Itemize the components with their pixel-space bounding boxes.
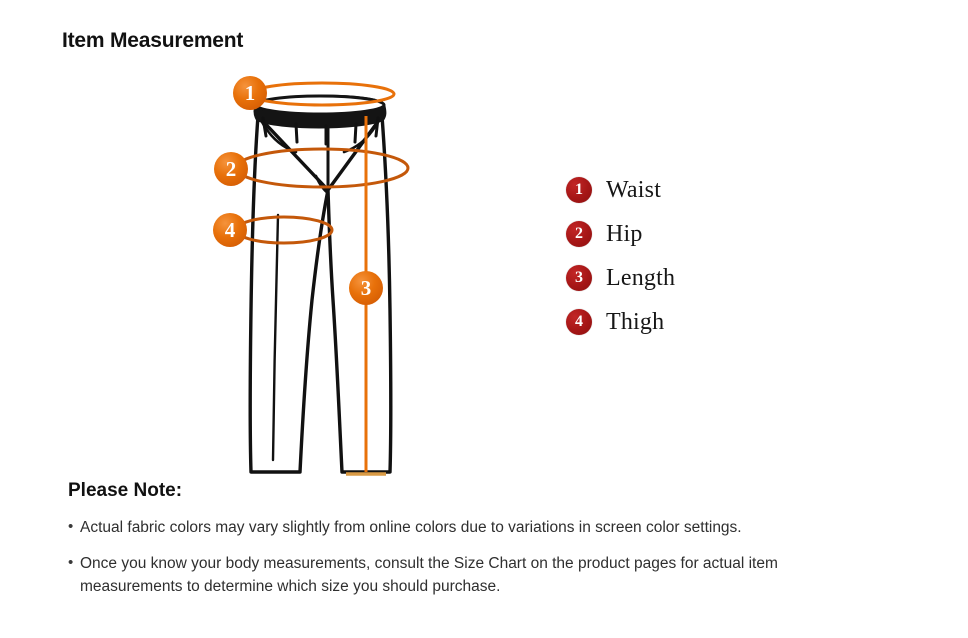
callout-badge-1: 1 — [233, 76, 267, 110]
measurement-legend: 1 Waist 2 Hip 3 Length 4 Thigh — [566, 168, 806, 344]
legend-badge-1: 1 — [566, 177, 592, 203]
pants-measurement-diagram: 1 2 3 4 — [150, 60, 530, 490]
note-text: Once you know your body measurements, co… — [80, 552, 840, 598]
legend-badge-2: 2 — [566, 221, 592, 247]
pants-illustration-svg: 1 2 3 4 — [150, 60, 530, 490]
page-title: Item Measurement — [62, 29, 243, 53]
note-text: Actual fabric colors may vary slightly f… — [80, 516, 742, 539]
legend-label-thigh: Thigh — [606, 309, 664, 336]
please-note-section: Please Note: • Actual fabric colors may … — [68, 480, 898, 611]
notes-heading: Please Note: — [68, 480, 898, 502]
callout-badge-2: 2 — [214, 152, 248, 186]
legend-item-waist: 1 Waist — [566, 168, 806, 212]
legend-item-hip: 2 Hip — [566, 212, 806, 256]
note-bullet-icon: • — [68, 552, 80, 574]
legend-badge-3: 3 — [566, 265, 592, 291]
note-bullet-icon: • — [68, 516, 80, 538]
legend-item-length: 3 Length — [566, 256, 806, 300]
legend-label-hip: Hip — [606, 221, 643, 248]
note-item: • Actual fabric colors may vary slightly… — [68, 516, 898, 539]
legend-label-waist: Waist — [606, 177, 661, 204]
measurement-guide-page: Item Measurement — [0, 0, 968, 638]
legend-item-thigh: 4 Thigh — [566, 300, 806, 344]
legend-badge-4: 4 — [566, 309, 592, 335]
callout-badge-3-number: 3 — [361, 276, 372, 300]
callout-badge-2-number: 2 — [226, 157, 237, 181]
callout-badge-4-number: 4 — [225, 218, 236, 242]
callout-badge-3: 3 — [349, 271, 383, 305]
callout-badge-1-number: 1 — [245, 81, 256, 105]
note-item: • Once you know your body measurements, … — [68, 552, 898, 598]
callout-badge-4: 4 — [213, 213, 247, 247]
legend-label-length: Length — [606, 265, 675, 292]
